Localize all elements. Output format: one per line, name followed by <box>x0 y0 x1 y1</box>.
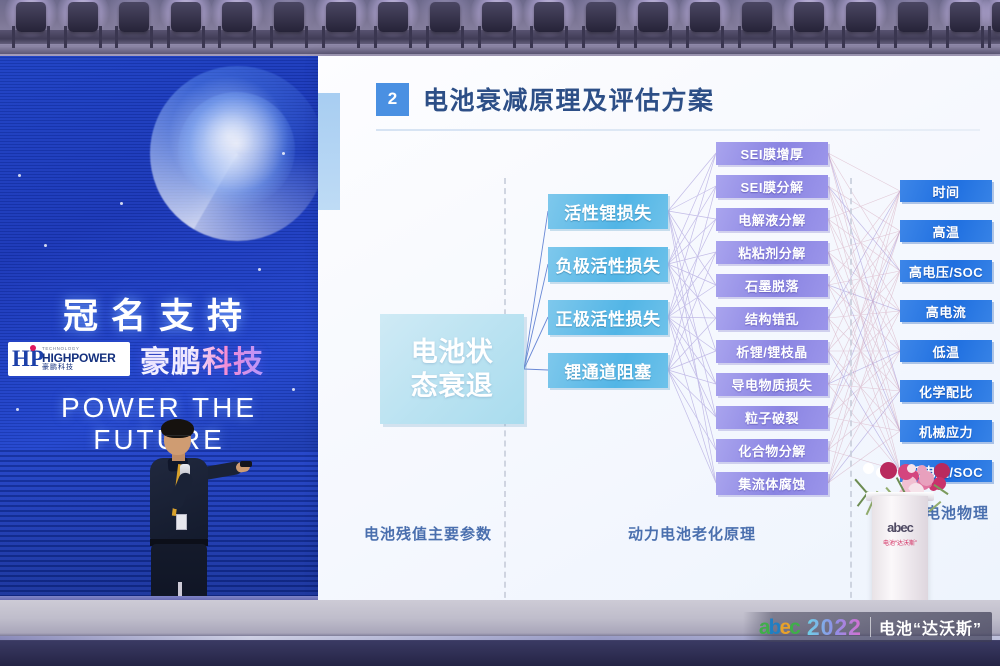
abec-logo-icon: a b e c <box>759 617 799 638</box>
abec-letter-b: b <box>769 617 780 638</box>
light-yoke <box>842 26 880 48</box>
light-yoke <box>426 26 464 48</box>
light-yoke <box>582 26 620 48</box>
node-col2-8: 导电物质损失 <box>716 373 828 396</box>
footer-label-1: 电池残值主要参数 <box>364 523 492 544</box>
node-col1-4: 锂通道阻塞 <box>548 353 668 388</box>
light-yoke <box>115 26 153 48</box>
event-badge: a b e c 2022 电池“达沃斯” <box>743 612 992 642</box>
highpower-mark-icon: HP <box>12 345 38 373</box>
slide-title: 电池衰减原理及评估方案 <box>423 81 715 117</box>
stage-light <box>736 0 778 36</box>
logo-cn-name: 豪鹏科技 <box>42 364 116 371</box>
stage-light <box>62 0 104 36</box>
node-col3-1: 时间 <box>900 180 992 202</box>
sponsor-title: 冠名支持 <box>0 288 318 339</box>
light-yoke <box>686 26 724 48</box>
light-yoke <box>738 26 776 48</box>
node-col3-3: 高电压/SOC <box>900 260 992 282</box>
node-col1-1: 活性锂损失 <box>548 194 668 229</box>
flower <box>863 463 874 474</box>
node-col2-5: 石墨脱落 <box>716 274 828 297</box>
node-col3-2: 高温 <box>900 220 992 242</box>
node-col2-6: 结构错乱 <box>716 307 828 330</box>
light-yoke <box>167 26 205 48</box>
center-node: 电池状 态衰退 <box>380 314 524 424</box>
stage-light <box>684 0 726 36</box>
flower <box>907 464 916 473</box>
sponsor-brand-cn: 豪鹏科技 <box>140 337 264 381</box>
node-col2-9: 粒子破裂 <box>716 406 828 429</box>
light-yoke <box>322 26 360 48</box>
node-col3-7: 机械应力 <box>900 420 992 442</box>
node-col3-4: 高电流 <box>900 300 992 322</box>
node-col2-4: 粘粘剂分解 <box>716 241 828 264</box>
slide-header: 2 电池衰减原理及评估方案 <box>376 81 715 117</box>
ring-graphic-icon <box>150 66 318 241</box>
abec-letter-c: c <box>789 617 799 638</box>
abec-letter-e: e <box>779 617 789 638</box>
flower <box>919 471 934 486</box>
light-yoke <box>790 26 828 48</box>
light-yoke <box>894 26 932 48</box>
stage-light <box>892 0 934 36</box>
light-yoke <box>64 26 102 48</box>
stage-light <box>986 0 1000 36</box>
light-yoke <box>12 26 50 48</box>
node-col2-2: SEI膜分解 <box>716 175 828 198</box>
logo-dot-icon <box>30 345 36 351</box>
center-node-line1: 电池状 <box>411 335 494 369</box>
highpower-logo: HP TECHNOLOGY HIGHPOWER 豪鹏科技 <box>8 342 130 376</box>
podium-subtitle: 电池“达沃斯” <box>872 538 928 547</box>
abec-letter-a: a <box>759 617 769 638</box>
footer-label-2: 动力电池老化原理 <box>628 523 756 544</box>
stage-scene: 冠名支持 HP TECHNOLOGY HIGHPOWER 豪鹏科技 豪鹏科技 P… <box>0 0 1000 666</box>
stage-light <box>476 0 518 36</box>
node-col3-6: 化学配比 <box>900 380 992 402</box>
node-col1-3: 正极活性损失 <box>548 300 668 335</box>
header-rule <box>376 129 980 131</box>
presenter-clicker <box>240 461 252 467</box>
stage-light <box>424 0 466 36</box>
speaker-badge <box>176 514 187 530</box>
podium-logo: abec <box>872 520 928 535</box>
center-node-line2: 态衰退 <box>411 369 494 403</box>
stage-light <box>268 0 310 36</box>
light-yoke <box>374 26 412 48</box>
stage-light <box>840 0 882 36</box>
node-col2-11: 集流体腐蚀 <box>716 472 828 495</box>
node-col2-10: 化合物分解 <box>716 439 828 462</box>
stage-light <box>580 0 622 36</box>
flower <box>880 462 897 479</box>
light-yoke <box>218 26 256 48</box>
divider-2 <box>850 178 852 602</box>
node-col2-1: SEI膜增厚 <box>716 142 828 165</box>
light-yoke <box>988 26 1000 48</box>
light-yoke <box>270 26 308 48</box>
light-yoke <box>946 26 984 48</box>
node-col3-5: 低温 <box>900 340 992 362</box>
stage-light <box>113 0 155 36</box>
event-tagline: 电池“达沃斯” <box>879 615 982 639</box>
stage-light <box>788 0 830 36</box>
light-yoke <box>478 26 516 48</box>
stage-light <box>165 0 207 36</box>
node-col2-3: 电解液分解 <box>716 208 828 231</box>
stage-light <box>320 0 362 36</box>
stage-light <box>528 0 570 36</box>
badge-separator <box>870 617 871 637</box>
stage-light <box>372 0 414 36</box>
stage-light <box>216 0 258 36</box>
stage-light <box>632 0 674 36</box>
sponsor-logo-row: HP TECHNOLOGY HIGHPOWER 豪鹏科技 豪鹏科技 <box>8 338 310 380</box>
node-col1-2: 负极活性损失 <box>548 247 668 282</box>
stage-light <box>10 0 52 36</box>
event-year: 2022 <box>807 614 862 641</box>
node-col2-7: 析锂/锂枝晶 <box>716 340 828 363</box>
speaker-glasses <box>165 435 191 441</box>
logo-name: HIGHPOWER <box>42 352 116 364</box>
section-number-badge: 2 <box>376 83 409 116</box>
light-yoke <box>634 26 672 48</box>
light-yoke <box>530 26 568 48</box>
